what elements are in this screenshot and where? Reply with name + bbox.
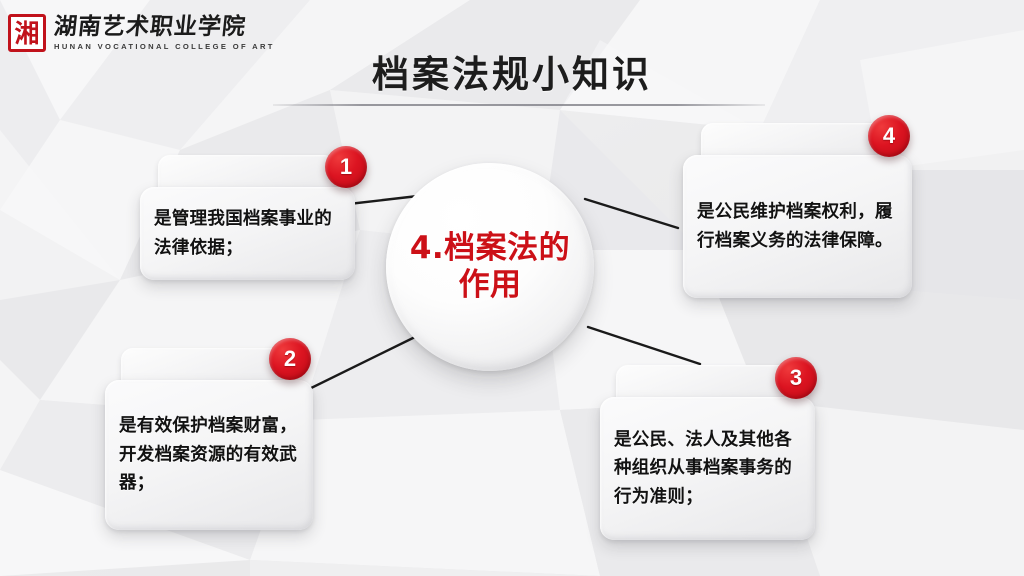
- center-node: 4.档案法的作用: [386, 163, 594, 371]
- callout-1-badge: 1: [325, 146, 367, 188]
- callout-1-text: 是管理我国档案事业的法律依据；: [154, 205, 341, 262]
- callout-2[interactable]: 是有效保护档案财富，开发档案资源的有效武器； 2: [105, 348, 313, 530]
- callout-1-body: 是管理我国档案事业的法律依据；: [140, 187, 355, 280]
- center-label: 4.档案法的作用: [400, 230, 580, 303]
- callout-2-badge: 2: [269, 338, 311, 380]
- callout-4-badge: 4: [868, 115, 910, 157]
- slide-canvas: 湘 湖南艺术职业学院 HUNAN VOCATIONAL COLLEGE OF A…: [0, 0, 1024, 576]
- connector-line-4: [585, 199, 678, 228]
- callout-3-text: 是公民、法人及其他各种组织从事档案事务的行为准则；: [614, 426, 801, 511]
- callout-3[interactable]: 是公民、法人及其他各种组织从事档案事务的行为准则； 3: [600, 365, 815, 540]
- callout-2-text: 是有效保护档案财富，开发档案资源的有效武器；: [119, 412, 299, 497]
- callout-3-badge: 3: [775, 357, 817, 399]
- callout-3-body: 是公民、法人及其他各种组织从事档案事务的行为准则；: [600, 397, 815, 540]
- callout-2-body: 是有效保护档案财富，开发档案资源的有效武器；: [105, 380, 313, 530]
- callout-4-body: 是公民维护档案权利，履行档案义务的法律保障。: [683, 155, 912, 298]
- callout-1[interactable]: 是管理我国档案事业的法律依据； 1: [140, 155, 355, 280]
- callout-4-text: 是公民维护档案权利，履行档案义务的法律保障。: [697, 198, 898, 255]
- connector-line-3: [588, 327, 700, 364]
- connector-line-2: [303, 337, 415, 392]
- callout-4[interactable]: 是公民维护档案权利，履行档案义务的法律保障。 4: [683, 123, 912, 298]
